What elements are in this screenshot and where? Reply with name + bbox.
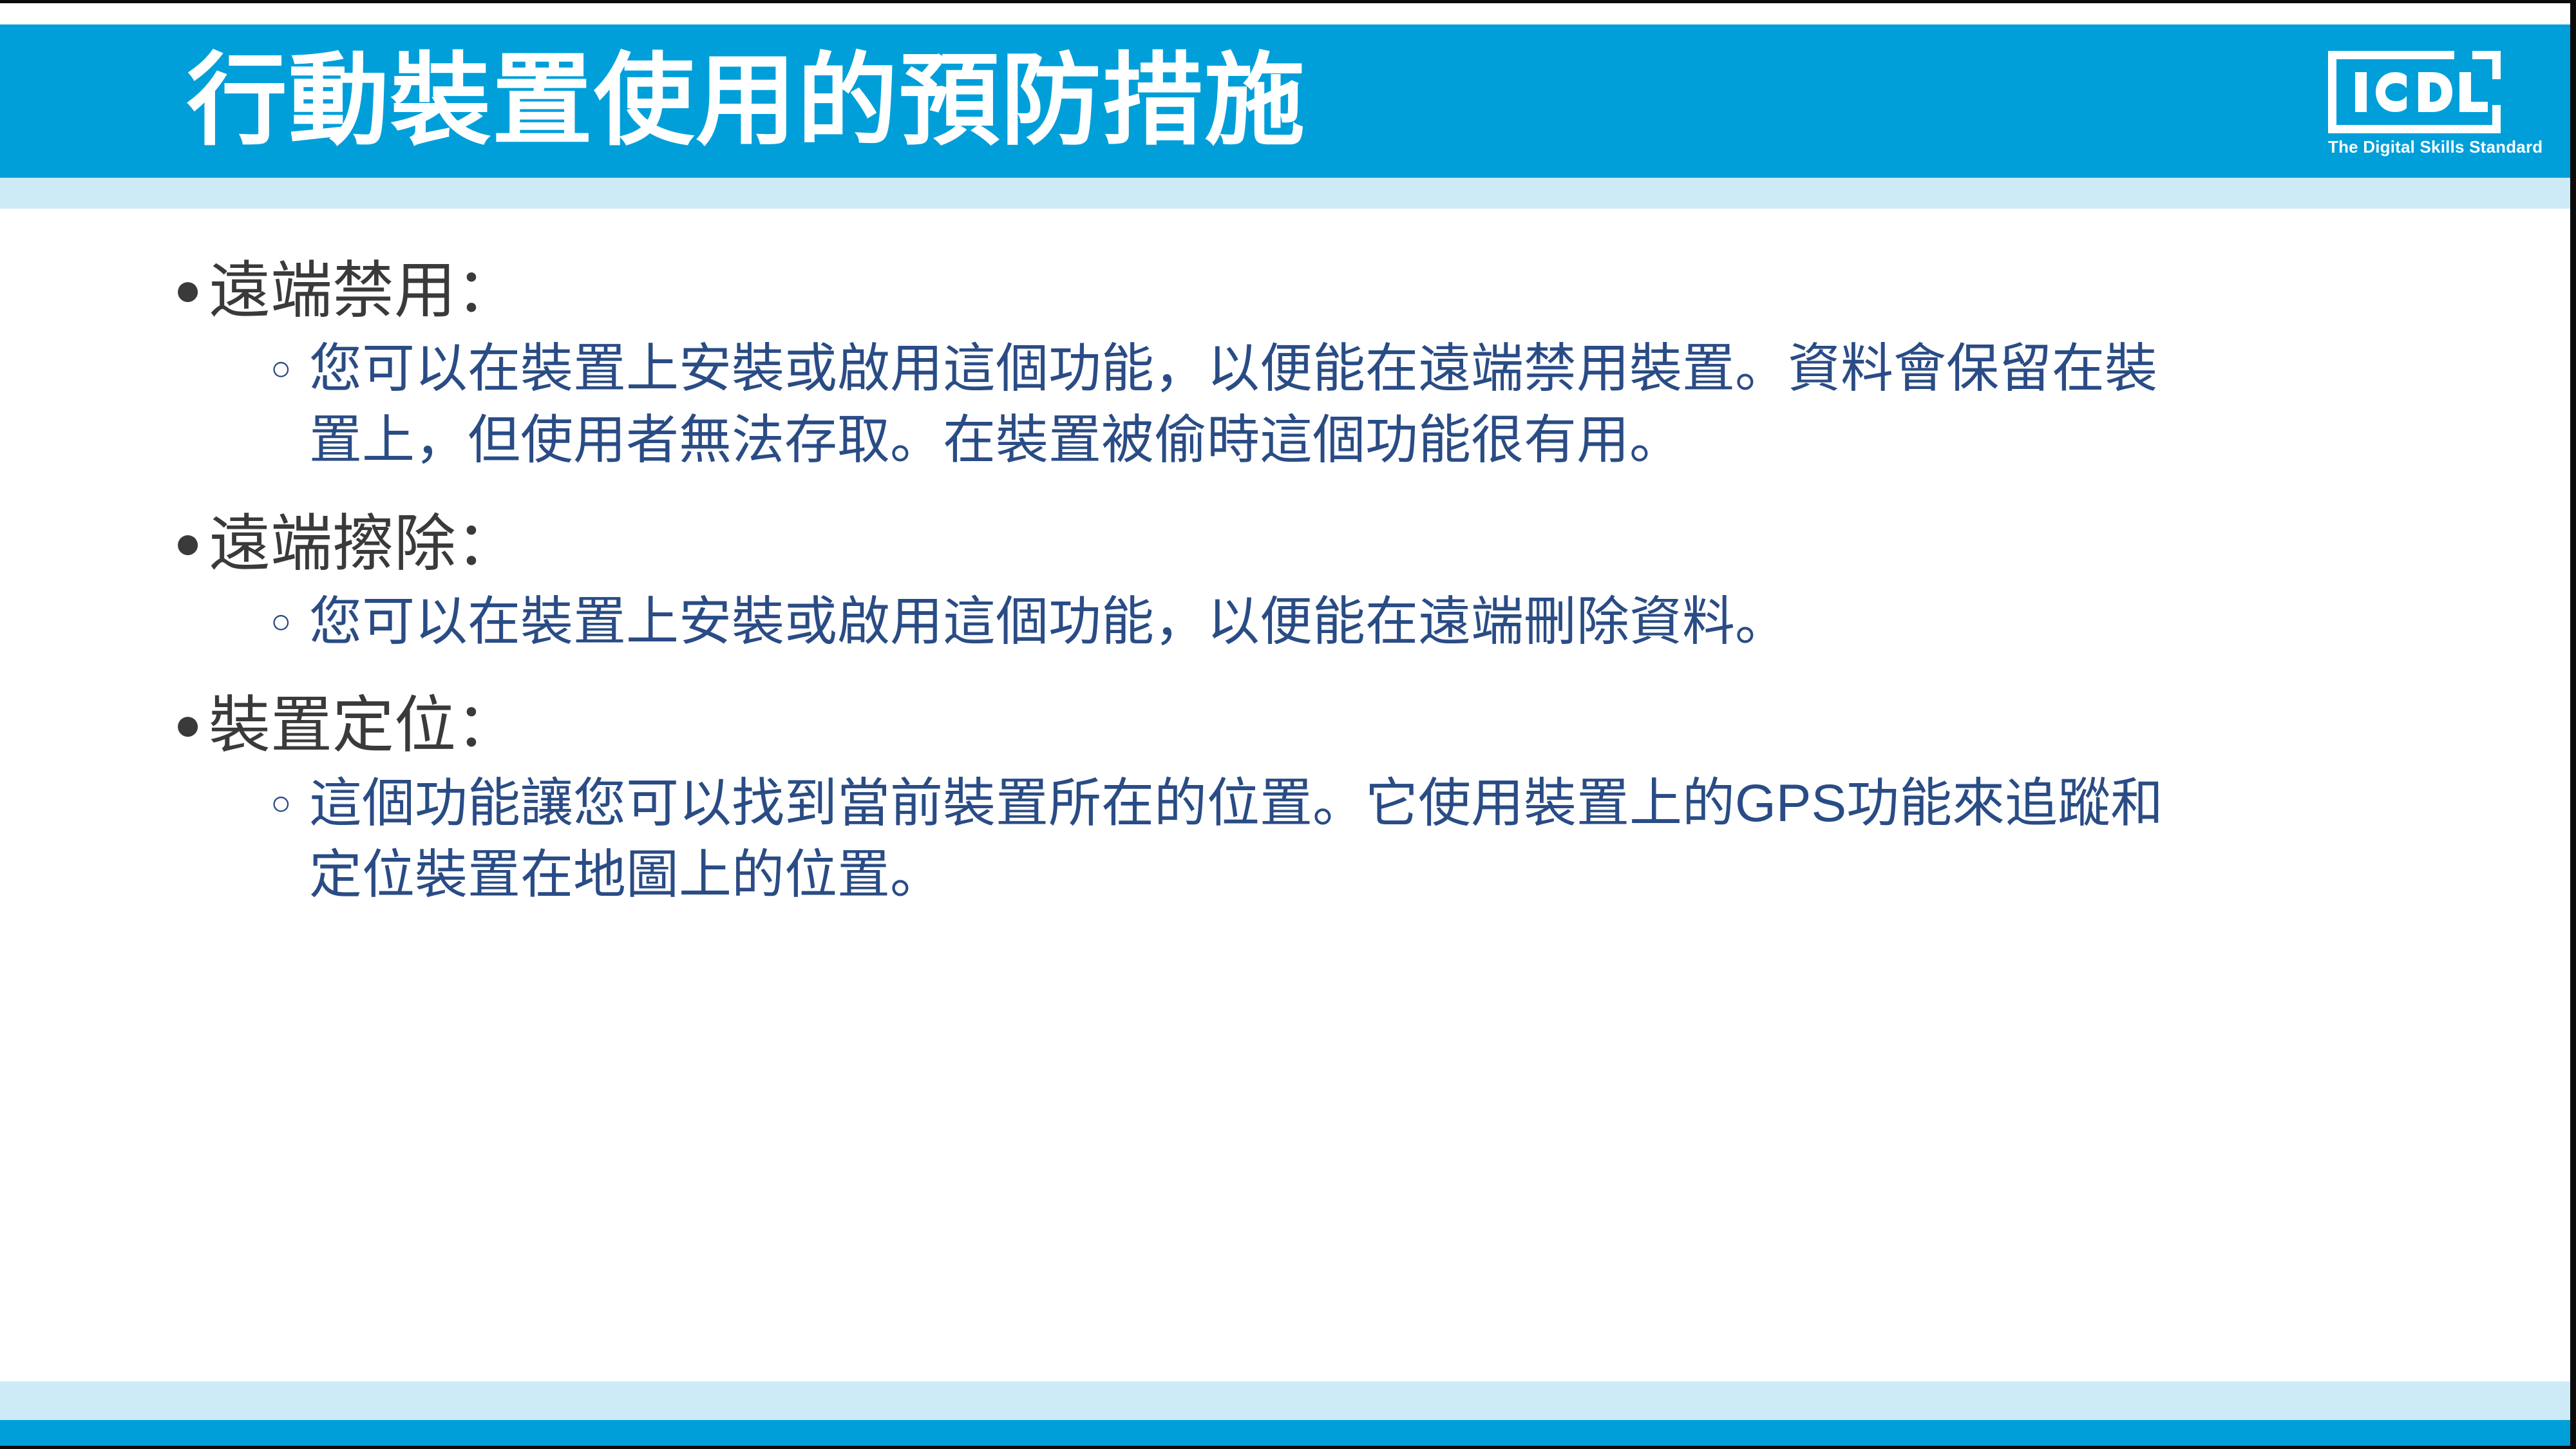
bullet-level1: ● 遠端擦除： [174, 507, 2479, 580]
bullet-spacer [174, 486, 2479, 507]
footer-accent-stripe [0, 1381, 2576, 1420]
bullet-filled-circle-icon: ● [174, 689, 209, 761]
bullet-level1-label: 遠端禁用： [209, 254, 518, 327]
bullet-level2: ○ 您可以在裝置上安裝或啟用這個功能，以便能在遠端刪除資料。 [174, 587, 2479, 658]
header-accent-stripe [0, 178, 2576, 209]
icdl-logo-mark [2328, 51, 2501, 133]
presentation-slide: 行動裝置使用的預防措施 The Digital Skills Sta [0, 0, 2576, 1449]
top-white-strip [0, 3, 2576, 24]
bullet-group-2: ● 遠端擦除： ○ 您可以在裝置上安裝或啟用這個功能，以便能在遠端刪除資料。 [174, 507, 2479, 658]
bullet-spacer [174, 667, 2479, 689]
slide-title: 行動裝置使用的預防措施 [187, 37, 2248, 166]
bullet-hollow-circle-icon: ○ [270, 768, 309, 838]
bullet-level2-text: 您可以在裝置上安裝或啟用這個功能，以便能在遠端刪除資料。 [309, 587, 2209, 658]
footer-band [0, 1420, 2576, 1446]
bullet-filled-circle-icon: ● [174, 507, 209, 580]
icdl-logo: The Digital Skills Standard [2328, 51, 2501, 162]
bullet-level1-label: 裝置定位： [209, 689, 518, 762]
bullet-group-3: ● 裝置定位： ○ 這個功能讓您可以找到當前裝置所在的位置。它使用裝置上的GPS… [174, 689, 2479, 911]
bullet-level1-label: 遠端擦除： [209, 507, 518, 580]
bullet-level1: ● 裝置定位： [174, 689, 2479, 762]
bullet-level2: ○ 您可以在裝置上安裝或啟用這個功能，以便能在遠端禁用裝置。資料會保留在裝置上，… [174, 334, 2479, 476]
bullet-level2: ○ 這個功能讓您可以找到當前裝置所在的位置。它使用裝置上的GPS功能來追蹤和定位… [174, 768, 2479, 911]
bullet-level1: ● 遠端禁用： [174, 254, 2479, 327]
bullet-group-1: ● 遠端禁用： ○ 您可以在裝置上安裝或啟用這個功能，以便能在遠端禁用裝置。資料… [174, 254, 2479, 477]
bullet-hollow-circle-icon: ○ [270, 587, 309, 656]
icdl-logo-tagline: The Digital Skills Standard [2328, 137, 2501, 157]
bullet-filled-circle-icon: ● [174, 254, 209, 327]
bullet-level2-text: 您可以在裝置上安裝或啟用這個功能，以便能在遠端禁用裝置。資料會保留在裝置上，但使… [309, 334, 2209, 476]
bullet-level2-text: 這個功能讓您可以找到當前裝置所在的位置。它使用裝置上的GPS功能來追蹤和定位裝置… [309, 768, 2209, 911]
bullet-hollow-circle-icon: ○ [270, 334, 309, 403]
slide-body: ● 遠端禁用： ○ 您可以在裝置上安裝或啟用這個功能，以便能在遠端禁用裝置。資料… [0, 216, 2576, 1356]
